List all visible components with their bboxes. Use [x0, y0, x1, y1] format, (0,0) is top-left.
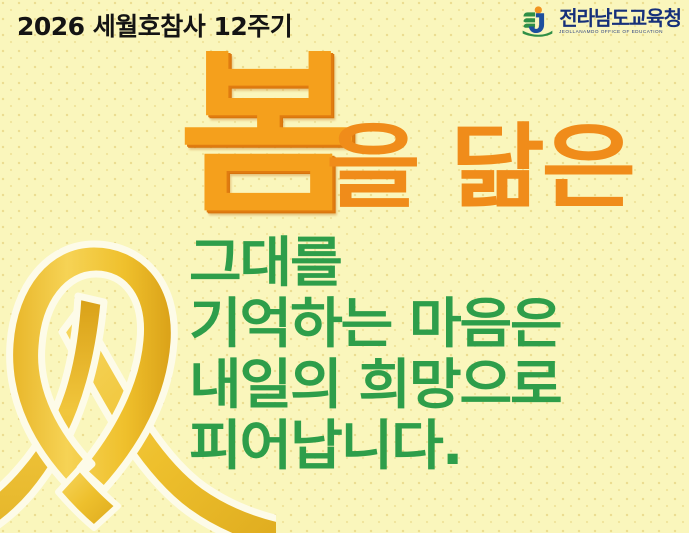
logo-subtitle: JEOLLANAMDO OFFICE OF EDUCATION	[559, 30, 683, 35]
title-big-word: 봄	[178, 52, 350, 220]
jeollanamdo-education-logo-icon	[521, 5, 554, 38]
organization-logo: 전라남도교육청 JEOLLANAMDO OFFICE OF EDUCATION	[521, 5, 681, 38]
message-line: 내일의 희망으로	[189, 354, 689, 415]
message-line: 그대를	[189, 232, 689, 293]
title-rest: 을 닮은	[326, 122, 633, 214]
logo-text-block: 전라남도교육청 JEOLLANAMDO OFFICE OF EDUCATION	[559, 8, 681, 35]
main-title: 봄 을 닮은	[178, 52, 678, 227]
logo-name: 전라남도교육청	[559, 8, 681, 28]
message-line: 기억하는 마음은	[189, 293, 689, 354]
message-line: 피어납니다.	[189, 415, 689, 476]
poster-canvas: 2026 세월호참사 12주기 전라남도교육청 JEOLLANAMDO OFFI…	[0, 0, 689, 533]
message-block: 그대를 기억하는 마음은 내일의 희망으로 피어납니다.	[189, 232, 689, 476]
